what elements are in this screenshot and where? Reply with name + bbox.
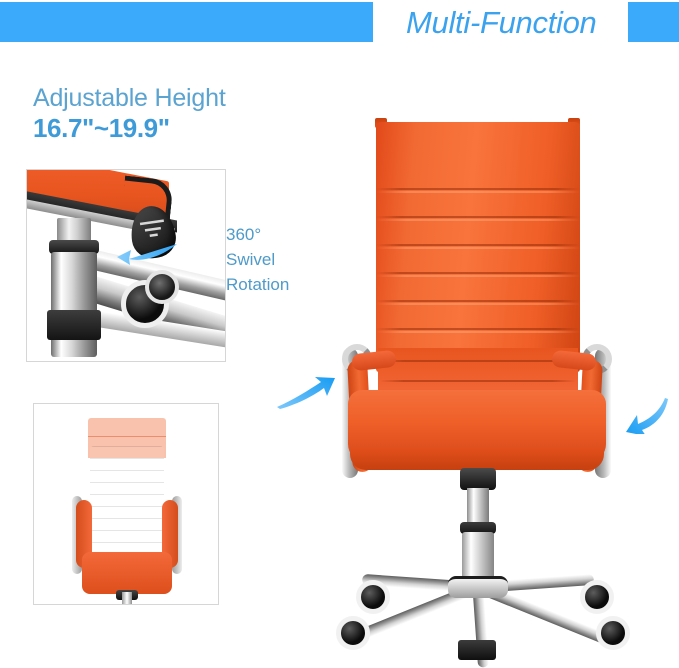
- inset1-gas-cylinder: [51, 252, 97, 357]
- inset-gas-lift-closeup: [26, 169, 226, 362]
- backrest-rib: [376, 244, 580, 246]
- header-left-blue-bar: [0, 2, 373, 42]
- backrest-rib-highlight: [376, 219, 580, 221]
- backrest-rib: [380, 360, 576, 362]
- gas-cylinder-upper: [467, 488, 489, 526]
- backrest-rib: [376, 300, 580, 302]
- adjustable-height-callout: Adjustable Height 16.7"~19.9": [33, 83, 313, 144]
- backrest-rib-highlight: [376, 191, 580, 193]
- backrest-rib-highlight: [376, 247, 580, 249]
- caster-wheel: [580, 580, 614, 614]
- backrest-rib: [376, 272, 580, 274]
- inset1-cylinder-clamp: [47, 310, 101, 340]
- header-banner: Multi-Function: [0, 0, 679, 48]
- seat-front-edge: [350, 448, 604, 470]
- caster-wheel: [356, 580, 390, 614]
- caster-wheel: [596, 616, 630, 650]
- adjustable-height-label: Adjustable Height: [33, 83, 313, 113]
- backrest-rib-highlight: [376, 275, 580, 277]
- inset-front-view: [33, 403, 219, 605]
- inset2-backrest: [90, 446, 164, 562]
- backrest-rib: [376, 216, 580, 218]
- backrest-rib: [376, 328, 580, 330]
- header-right-blue-square: [628, 2, 679, 42]
- caster-wheel: [336, 616, 370, 650]
- backrest-rib: [376, 188, 580, 190]
- swivel-arrow-left-icon: [277, 376, 337, 410]
- backrest-rib: [380, 380, 576, 382]
- backrest-rib-highlight: [376, 331, 580, 333]
- caster-wheel-front: [458, 640, 496, 660]
- adjustable-height-value: 16.7"~19.9": [33, 113, 313, 144]
- cylinder-top-collar: [460, 468, 496, 490]
- swivel-arrow-right-icon: [612, 398, 670, 434]
- lever-arrow-inset-icon: [117, 240, 179, 266]
- inset1-caster-wheel-secondary: [145, 270, 179, 304]
- inset2-gas-cylinder: [122, 592, 132, 605]
- main-product-image: [280, 60, 679, 626]
- page-title: Multi-Function: [406, 0, 622, 47]
- inset2-ghost-rib: [88, 436, 166, 437]
- inset2-seat: [82, 552, 172, 594]
- base-hub: [448, 576, 508, 598]
- backrest-rib-highlight: [376, 303, 580, 305]
